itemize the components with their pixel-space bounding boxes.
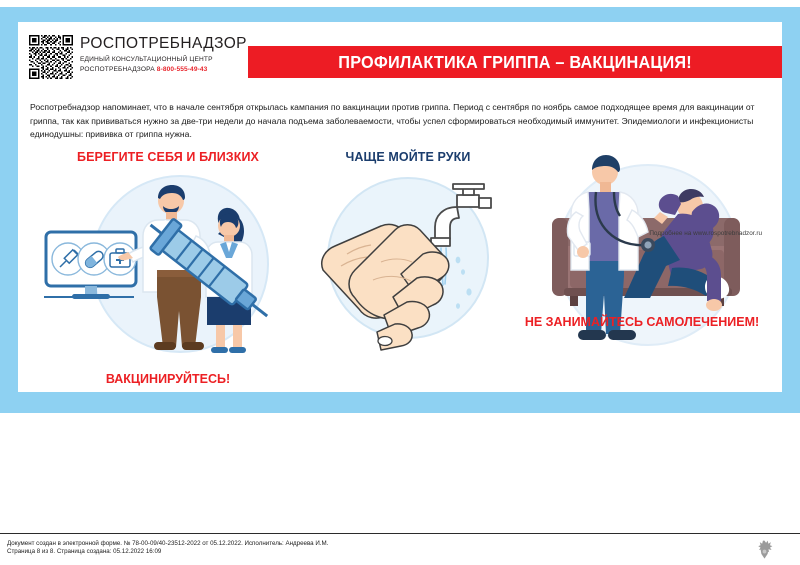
poster-header: РОСПОТРЕБНАДЗОР ЕДИНЫЙ КОНСУЛЬТАЦИОННЫЙ … <box>18 22 782 82</box>
intro-paragraph: Роспотребнадзор напоминает, что в начале… <box>30 101 772 143</box>
more-info-link[interactable]: Подробнее на www.rospotrebnadzor.ru <box>508 230 776 237</box>
panel-vaccinate-footer: ВАКЦИНИРУЙТЕСЬ! <box>30 372 306 386</box>
hotline-phone: 8-800-555-49-43 <box>157 66 208 73</box>
panel-wash-hands: ЧАЩЕ МОЙТЕ РУКИ <box>313 150 503 392</box>
doctors-with-syringe-illustration <box>30 164 306 364</box>
illustration-panels: БЕРЕГИТЕ СЕБЯ И БЛИЗКИХ <box>18 150 782 392</box>
poster-canvas: РОСПОТРЕБНАДЗОР ЕДИНЫЙ КОНСУЛЬТАЦИОННЫЙ … <box>18 22 782 392</box>
logo-text-block: РОСПОТРЕБНАДЗОР ЕДИНЫЙ КОНСУЛЬТАЦИОННЫЙ … <box>80 35 247 74</box>
poster-title: ПРОФИЛАКТИКА ГРИППА – ВАКЦИНАЦИЯ! <box>338 52 692 73</box>
document-page: РОСПОТРЕБНАДЗОР ЕДИНЫЙ КОНСУЛЬТАЦИОННЫЙ … <box>0 0 800 565</box>
poster-title-banner: ПРОФИЛАКТИКА ГРИППА – ВАКЦИНАЦИЯ! <box>248 46 782 78</box>
hands-washing-under-tap-illustration <box>311 162 505 358</box>
consultation-center-line2: РОСПОТРЕБНАДЗОРА 8-800-555-49-43 <box>80 65 247 75</box>
consultation-center-owner: РОСПОТРЕБНАДЗОРА <box>80 66 155 73</box>
panel-vaccinate-heading: БЕРЕГИТЕ СЕБЯ И БЛИЗКИХ <box>30 150 306 164</box>
panel-vaccinate: БЕРЕГИТЕ СЕБЯ И БЛИЗКИХ <box>30 150 306 392</box>
document-footer: Документ создан в электронной форме. № 7… <box>0 533 800 565</box>
panel-no-selftreatment: НЕ ЗАНИМАЙТЕСЬ САМОЛЕЧЕНИЕМ! <box>508 150 776 392</box>
organization-name: РОСПОТРЕБНАДЗОР <box>80 36 247 52</box>
poster-blue-frame: РОСПОТРЕБНАДЗОР ЕДИНЫЙ КОНСУЛЬТАЦИОННЫЙ … <box>0 7 800 413</box>
consultation-center-line1: ЕДИНЫЙ КОНСУЛЬТАЦИОННЫЙ ЦЕНТР <box>80 55 247 65</box>
russian-coat-of-arms-icon <box>755 539 774 561</box>
rospotrebnadzor-logo: РОСПОТРЕБНАДЗОР ЕДИНЫЙ КОНСУЛЬТАЦИОННЫЙ … <box>29 35 247 79</box>
panel-no-selftreatment-footer: НЕ ЗАНИМАЙТЕСЬ САМОЛЕЧЕНИЕМ! <box>508 315 776 329</box>
document-footer-line2: Страница 8 из 8. Страница создана: 05.12… <box>7 547 161 558</box>
qr-code-icon <box>29 35 73 79</box>
